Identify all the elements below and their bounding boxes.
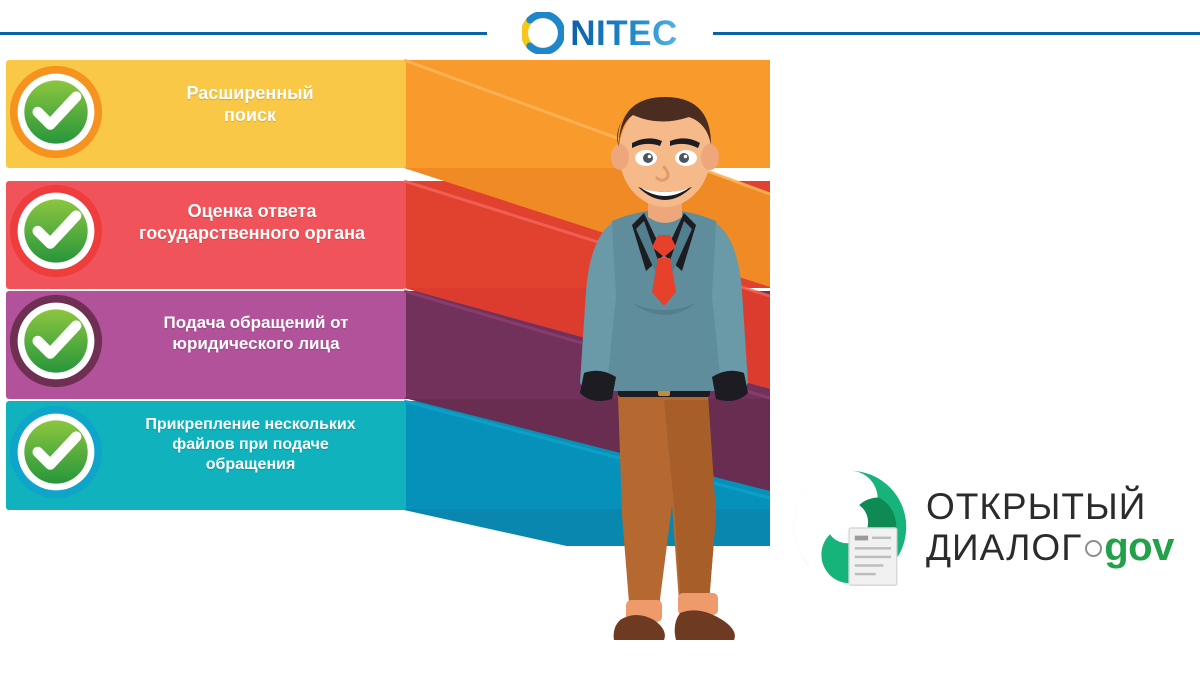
check-circle-icon-advanced-search xyxy=(8,64,104,160)
check-circle-icon-response-rating xyxy=(8,183,104,279)
smiling-businessman-illustration xyxy=(540,95,790,660)
dot-circle-icon xyxy=(1085,540,1102,557)
dialog-swirl-icon xyxy=(788,465,912,591)
check-circle-icon-multiple-file-attachment xyxy=(8,404,104,500)
header-rule-left xyxy=(0,32,487,35)
dialog-line1: ОТКРЫТЫЙ xyxy=(926,487,1174,526)
dialog-line2: ДИАЛОГ gov xyxy=(926,526,1174,568)
dialog-line2-text: ДИАЛОГ xyxy=(926,528,1082,567)
infographic-canvas: NITEC xyxy=(0,0,1200,675)
check-circle-icon-legal-entity-appeals xyxy=(8,293,104,389)
dialog-wordmark: ОТКРЫТЫЙ ДИАЛОГ gov xyxy=(926,487,1174,569)
gov-suffix: gov xyxy=(1104,526,1174,568)
otkrytyi-dialog-gov-logo: ОТКРЫТЫЙ ДИАЛОГ gov xyxy=(788,462,1170,594)
header-rule-right xyxy=(713,32,1200,35)
